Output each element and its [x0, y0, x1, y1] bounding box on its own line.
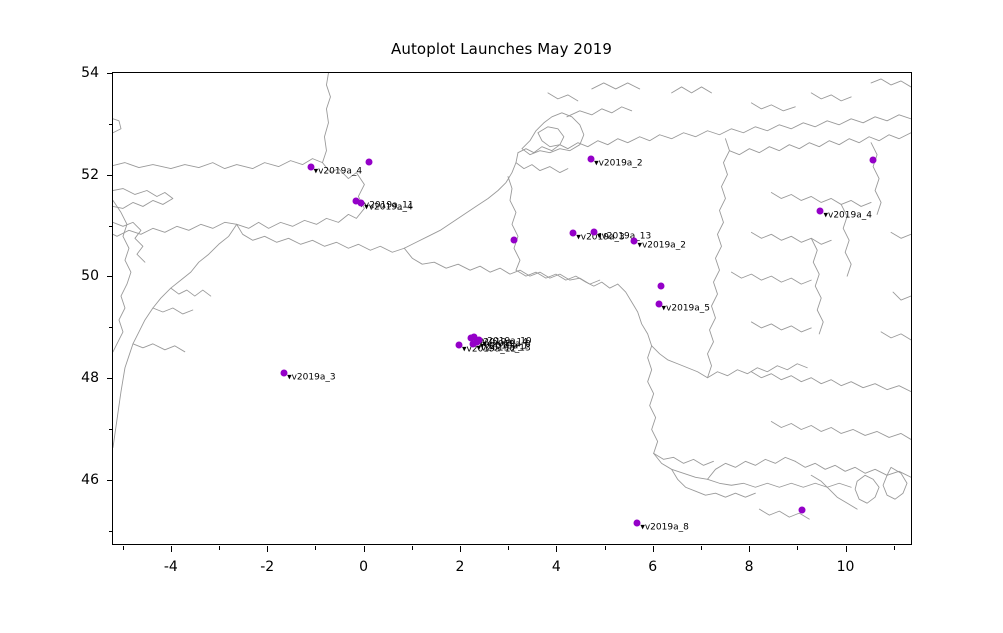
x-tick-label: 6: [648, 559, 657, 575]
page-title: Autoplot Launches May 2019: [0, 40, 1003, 58]
x-minor-tick: [123, 546, 124, 550]
y-minor-tick: [109, 124, 113, 125]
x-tick-label: -2: [260, 559, 274, 575]
x-tick-label: 8: [745, 559, 754, 575]
y-tick-label: 52: [81, 167, 99, 183]
x-major-tick: [846, 546, 847, 552]
x-tick-label: 4: [552, 559, 561, 575]
x-minor-tick: [797, 546, 798, 550]
x-minor-tick: [508, 546, 509, 550]
x-major-tick: [556, 546, 557, 552]
map-axes[interactable]: ▾v2019a_4▾v2019a_11▾v2019a_4▾v2019a_3▾v2…: [112, 72, 912, 545]
scatter-point-label: ▾v2019a_4: [364, 203, 413, 212]
scatter-point-label: ▾v2019a_8: [482, 341, 531, 350]
y-minor-tick: [109, 531, 113, 532]
scatter-point-label: ▾v2019a_2: [594, 160, 643, 169]
scatter-point-label: ▾v2019a_4: [314, 168, 363, 177]
scatter-point-layer[interactable]: ▾v2019a_4▾v2019a_11▾v2019a_4▾v2019a_3▾v2…: [113, 73, 911, 544]
x-minor-tick: [605, 546, 606, 550]
y-minor-tick: [109, 327, 113, 328]
y-minor-tick: [109, 429, 113, 430]
scatter-point[interactable]: [510, 236, 517, 243]
x-tick-label: -4: [164, 559, 178, 575]
y-major-tick: [107, 73, 113, 74]
x-minor-tick: [701, 546, 702, 550]
figure-canvas: Autoplot Launches May 2019: [0, 0, 1003, 633]
y-tick-label: 54: [81, 65, 99, 81]
y-minor-tick: [109, 226, 113, 227]
y-major-tick: [107, 175, 113, 176]
y-tick-label: 48: [81, 370, 99, 386]
x-major-tick: [171, 546, 172, 552]
scatter-point[interactable]: [799, 507, 806, 514]
scatter-point-label: ▾v2019a_4: [823, 212, 872, 221]
x-minor-tick: [894, 546, 895, 550]
scatter-point[interactable]: [658, 282, 665, 289]
x-major-tick: [653, 546, 654, 552]
scatter-point-label: ▾v2019a_8: [640, 524, 689, 533]
scatter-point-label: ▾v2019a_2: [637, 241, 686, 250]
x-major-tick: [749, 546, 750, 552]
x-minor-tick: [315, 546, 316, 550]
y-major-tick: [107, 378, 113, 379]
x-major-tick: [460, 546, 461, 552]
scatter-point-label: ▾v2019a_5: [662, 305, 711, 314]
y-tick-label: 46: [81, 472, 99, 488]
scatter-point-label: ▾v2019a_3: [287, 374, 336, 383]
x-tick-label: 10: [837, 559, 855, 575]
x-minor-tick: [412, 546, 413, 550]
x-tick-label: 0: [359, 559, 368, 575]
x-major-tick: [364, 546, 365, 552]
y-tick-label: 50: [81, 268, 99, 284]
scatter-point[interactable]: [870, 157, 877, 164]
x-minor-tick: [219, 546, 220, 550]
x-major-tick: [267, 546, 268, 552]
y-major-tick: [107, 276, 113, 277]
y-major-tick: [107, 480, 113, 481]
scatter-point[interactable]: [366, 159, 373, 166]
x-tick-label: 2: [456, 559, 465, 575]
